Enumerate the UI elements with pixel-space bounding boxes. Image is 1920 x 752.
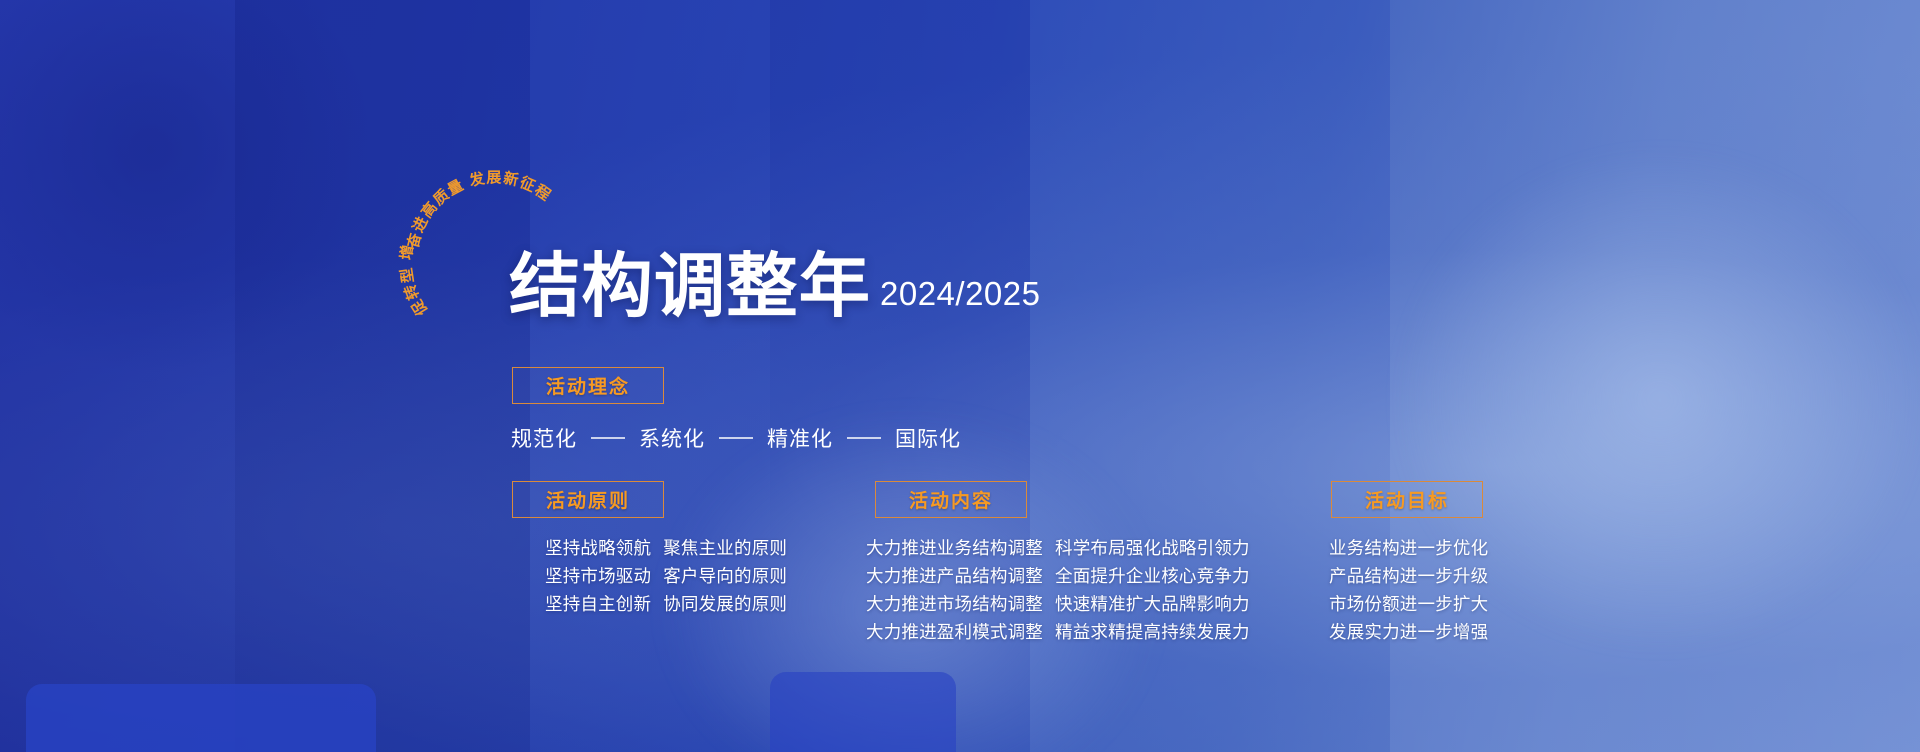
keyword-item: 系统化 — [639, 423, 705, 453]
row-left: 发展实力进一步增强 — [1329, 618, 1488, 646]
keyword-item: 精准化 — [767, 423, 833, 453]
list-item: 业务结构进一步优化 — [1329, 534, 1488, 562]
list-item: 坚持市场驱动 客户导向的原则 — [545, 562, 787, 590]
row-right: 精益求精提高持续发展力 — [1055, 618, 1250, 646]
chip-activity-contents[interactable]: 活动内容 — [875, 481, 1027, 518]
ring-text-top: 奋进高质量 发展新征程 — [404, 169, 555, 251]
chip-activity-goals[interactable]: 活动目标 — [1331, 481, 1483, 518]
keyword-item: 国际化 — [895, 423, 961, 453]
page-title: 结构调整年 — [509, 251, 871, 321]
chip-activity-concept[interactable]: 活动理念 — [512, 367, 664, 404]
row-left: 市场份额进一步扩大 — [1329, 590, 1488, 618]
column-principles: 坚持战略领航 聚焦主业的原则 坚持市场驱动 客户导向的原则 坚持自主创新 协同发… — [545, 534, 787, 618]
chip-activity-principles[interactable]: 活动原则 — [512, 481, 664, 518]
list-item: 坚持自主创新 协同发展的原则 — [545, 590, 787, 618]
banner-title-row: 结构调整年 2024/2025 — [509, 251, 1041, 321]
row-right: 聚焦主业的原则 — [663, 534, 787, 562]
row-right: 客户导向的原则 — [663, 562, 787, 590]
row-left: 大力推进市场结构调整 — [866, 590, 1043, 618]
row-left: 产品结构进一步升级 — [1329, 562, 1488, 590]
list-item: 坚持战略领航 聚焦主业的原则 — [545, 534, 787, 562]
column-contents: 大力推进业务结构调整 科学布局强化战略引领力 大力推进产品结构调整 全面提升企业… — [866, 534, 1250, 646]
list-item: 产品结构进一步升级 — [1329, 562, 1488, 590]
list-item: 大力推进盈利模式调整 精益求精提高持续发展力 — [866, 618, 1250, 646]
row-right: 科学布局强化战略引领力 — [1055, 534, 1250, 562]
row-left: 坚持战略领航 — [545, 534, 651, 562]
list-item: 大力推进市场结构调整 快速精准扩大品牌影响力 — [866, 590, 1250, 618]
list-item: 大力推进产品结构调整 全面提升企业核心竞争力 — [866, 562, 1250, 590]
row-left: 坚持自主创新 — [545, 590, 651, 618]
concept-keywords: 规范化 系统化 精准化 国际化 — [511, 423, 961, 453]
row-left: 业务结构进一步优化 — [1329, 534, 1488, 562]
row-right: 协同发展的原则 — [663, 590, 787, 618]
column-goals: 业务结构进一步优化 产品结构进一步升级 市场份额进一步扩大 发展实力进一步增强 — [1329, 534, 1488, 646]
row-left: 大力推进产品结构调整 — [866, 562, 1043, 590]
list-item: 市场份额进一步扩大 — [1329, 590, 1488, 618]
row-right: 全面提升企业核心竞争力 — [1055, 562, 1250, 590]
row-left: 大力推进盈利模式调整 — [866, 618, 1043, 646]
row-left: 大力推进业务结构调整 — [866, 534, 1043, 562]
keyword-divider-icon — [719, 437, 753, 439]
list-item: 发展实力进一步增强 — [1329, 618, 1488, 646]
row-left: 坚持市场驱动 — [545, 562, 651, 590]
keyword-item: 规范化 — [511, 423, 577, 453]
keyword-divider-icon — [591, 437, 625, 439]
list-item: 大力推进业务结构调整 科学布局强化战略引领力 — [866, 534, 1250, 562]
title-year: 2024/2025 — [880, 275, 1041, 321]
keyword-divider-icon — [847, 437, 881, 439]
row-right: 快速精准扩大品牌影响力 — [1055, 590, 1250, 618]
